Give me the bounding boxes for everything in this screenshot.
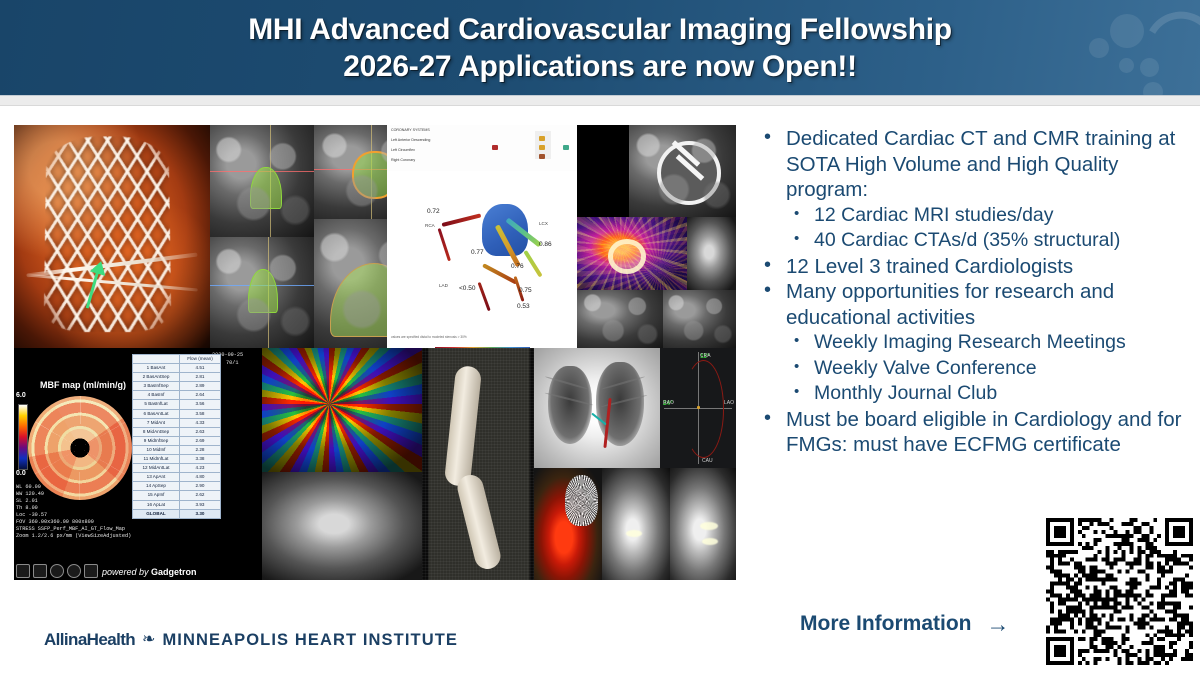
current-angle-marker [697,406,700,409]
lge-cmr-image [670,468,736,580]
qr-code-canvas[interactable] [1046,518,1193,673]
allina-health-wordmark: AllinaHealth [44,630,135,650]
segment-flow-value: 2.89 [180,382,221,391]
sub-bullet-item: 12 Cardiac MRI studies/day [752,203,1196,229]
segment-flow-value: 4.23 [180,464,221,473]
segment-name: 15 ApInf [133,491,180,500]
tool-icon-window[interactable] [50,564,64,578]
coronary-vessel [478,282,491,311]
table-row: 2 BasAntSep2.81 [133,373,221,382]
lge-cmr-image [602,468,670,580]
mbf-map-console: 6.0 0.0 MBF map (ml/min/g) WL 60.00 WW 1… [14,348,262,580]
table-row: 5 BasInfLat3.56 [133,400,221,409]
cine-cmr-short-axis-image [687,217,736,290]
tavr-volume-render-image [14,125,210,348]
gadgetron-name: Gadgetron [151,567,197,577]
ffr-marker [539,136,545,141]
table-row: 14 ApSep2.90 [133,482,221,491]
table-row: 16 ApLat3.93 [133,500,221,509]
segment-flow-value: 2.90 [180,482,221,491]
aorta-cpr-image [422,348,534,580]
coronary-tree-diagram: 0.72 0.86 0.77 0.76 <0.50 0.75 0.53 RCA … [387,171,577,355]
more-information-label: More Information [800,612,972,636]
ffr-panel-title: CORONARY SYSTEMS [391,128,430,132]
qr-code[interactable] [1046,518,1193,673]
mbf-map-title: MBF map (ml/min/g) [40,380,126,390]
mbf-scale-min: 0.0 [16,470,26,477]
imaging-collage: CORONARY SYSTEMS Left Anterior Descendin… [14,125,736,580]
segment-name: 9 MidInfSep [133,436,180,445]
coronary-vessel [438,228,451,261]
ffr-ct-report-panel: CORONARY SYSTEMS Left Anterior Descendin… [387,125,577,355]
ffr-marker [539,145,545,150]
allina-mhi-logo: AllinaHealth ❧ MINNEAPOLIS HEART INSTITU… [44,630,458,650]
bullet-item: Dedicated Cardiac CT and CMR training at… [752,126,1196,203]
fellowship-highlights-list: Dedicated Cardiac CT and CMR training at… [752,126,1196,458]
vessel-label-rca: RCA [425,223,435,228]
table-row: 13 ApAnt4.80 [133,473,221,482]
table-row: 11 MidInfLat3.38 [133,455,221,464]
calcified-valve [565,475,598,527]
mbf-scale-max: 6.0 [16,392,26,399]
carm-rao-label: RAO 24° [663,400,673,407]
ffr-row-label: Left Anterior Descending [391,138,430,142]
segment-flow-value: 4.51 [180,364,221,373]
ffr-value: 0.76 [511,263,524,270]
segment-name: 6 BasAntLat [133,409,180,418]
tool-icon-zoom[interactable] [33,564,47,578]
arrow-right-icon: → [987,613,1010,636]
tool-icon-measure[interactable] [67,564,81,578]
carm-cau-label: CAU [702,458,713,464]
dicom-overlay-line: FOV 360.00x360.00 800x800 [16,519,94,526]
valve-leaflet [676,154,705,180]
black-spacer [577,125,629,217]
ct-calcium-fusion-image [534,468,602,580]
ffr-row-label: Left Circumflex [391,148,415,152]
dicom-overlay-line: Zoom 1.2/2.6 px/mm (ViewSizeAdjusted) [16,533,131,540]
title-line-2: 2026-27 Applications are now Open!! [0,49,1200,86]
segment-flow-value: 3.38 [180,455,221,464]
table-header-row: Flow (mean) [133,355,221,364]
ffr-value: 0.77 [471,249,484,256]
segment-flow-value: 2.28 [180,445,221,454]
dicom-overlay-line: Loc -30.57 [16,512,47,519]
aortic-valve-contour [250,167,282,209]
table-row: 7 MidAnt4.33 [133,418,221,427]
coronary-vessel [523,250,542,278]
segment-flow-table: Flow (mean) 1 BasAnt4.512 BasAntSep2.813… [132,354,221,519]
ct-aortic-root-image [663,290,736,348]
more-information-link[interactable]: More Information → [800,612,1010,636]
ffr-row-label: Right Coronary [391,158,415,162]
sub-bullet-item: 40 Cardiac CTAs/d (35% structural) [752,228,1196,254]
prosthetic-valve-ring [657,141,721,205]
segment-flow-value: 2.64 [180,391,221,400]
carm-lao-label: LAO [724,400,734,406]
segment-flow-value: 4.33 [180,418,221,427]
segment-name: 12 MidAntLat [133,464,180,473]
gadgetron-powered-by: powered by [102,567,149,577]
ffr-value: <0.50 [459,285,475,292]
vessel-label-lcx: LCX [539,221,548,226]
t1-map-color-image [262,348,422,472]
dicom-series-number: 70/1 [226,360,238,367]
table-row: 15 ApInf2.62 [133,491,221,500]
vessel-label-lad: LAD [439,283,448,288]
segment-flow-value: 3.58 [180,409,221,418]
carm-cranial-label: CRA11° [700,353,709,360]
ct-chest-axial-image [577,290,663,348]
table-row: 10 MidInf2.28 [133,445,221,454]
slide-header-banner: MHI Advanced Cardiovascular Imaging Fell… [0,0,1200,95]
table-col-segment [133,355,180,364]
segment-name: 2 BasAntSep [133,373,180,382]
bullet-item: Must be board eligible in Cardiology and… [752,407,1196,458]
page-title: MHI Advanced Cardiovascular Imaging Fell… [0,12,1200,85]
ffr-value: 0.53 [517,303,530,310]
dicom-overlay-line: SL 2.01 [16,498,38,505]
dicom-overlay-line: Th 8.00 [16,505,38,512]
segment-name: 13 ApAnt [133,473,180,482]
segment-flow-value: 3.30 [180,509,221,518]
cardiac-perfusion-map-image [577,217,687,290]
angulation-curve [683,360,725,458]
segment-name: 16 ApLat [133,500,180,509]
myocardium-ring [608,239,647,274]
table-total-row: GLOBAL3.30 [133,509,221,518]
mbf-color-scale [18,404,28,470]
table-row: 12 MidAntLat4.23 [133,464,221,473]
sub-bullet-item: Weekly Valve Conference [752,356,1196,382]
c-arm-angulation-graph: CRA11° RAO 24° LAO CAU [660,348,736,468]
mechanical-valve-ct-image [629,125,736,217]
sub-bullet-item: Monthly Journal Club [752,381,1196,407]
title-line-1: MHI Advanced Cardiovascular Imaging Fell… [248,13,952,46]
segment-flow-value: 4.80 [180,473,221,482]
ffr-marker [563,145,569,150]
segment-name: GLOBAL [133,509,180,518]
table-row: 9 MidInfSep2.69 [133,436,221,445]
segment-name: 1 BasAnt [133,364,180,373]
table-row: 3 BasInfSep2.89 [133,382,221,391]
segment-flow-value: 2.63 [180,427,221,436]
gadgetron-branding: powered by Gadgetron [102,567,197,577]
segment-name: 7 MidAnt [133,418,180,427]
aha-17-segment-bullseye [28,396,132,500]
dicom-overlay-line: WW 120.49 [16,491,44,498]
segment-name: 14 ApSep [133,482,180,491]
viewer-toolbar[interactable] [16,564,98,578]
table-col-flow: Flow (mean) [180,355,221,364]
dicom-overlay-line: STRESS SSFP_Perf_MBF_AI_GT_Flow_Map [16,526,125,533]
dicom-overlay-line: WL 60.00 [16,484,41,491]
cine-cmr-four-chamber-image [262,472,422,580]
segment-name: 10 MidInf [133,445,180,454]
segment-name: 4 BasInf [133,391,180,400]
ffr-value: 0.75 [519,287,532,294]
bullet-item: 12 Level 3 trained Cardiologists [752,254,1196,280]
ffr-marker [492,145,498,150]
segment-flow-value: 3.56 [180,400,221,409]
bullet-item: Many opportunities for research and educ… [752,279,1196,330]
segment-flow-value: 2.81 [180,373,221,382]
table-row: 8 MidAntSep2.63 [133,427,221,436]
ffr-footnote: values are specified distal to modeled s… [391,335,467,339]
ffr-report-header: CORONARY SYSTEMS Left Anterior Descendin… [387,125,577,172]
header-divider [0,95,1200,106]
allina-leaf-icon: ❧ [142,632,155,648]
chest-fluoroscopy-image [534,348,660,468]
tool-icon-play[interactable] [84,564,98,578]
segment-name: 11 MidInfLat [133,455,180,464]
aortic-valve-contour [248,269,278,313]
coronary-vessel [442,213,482,227]
segment-flow-value: 3.93 [180,500,221,509]
sub-bullet-item: Weekly Imaging Research Meetings [752,330,1196,356]
tool-icon-pan[interactable] [16,564,30,578]
ffr-value: 0.72 [427,208,440,215]
table-row: 1 BasAnt4.51 [133,364,221,373]
valve-leaflet [672,140,701,166]
ct-annulus-sagittal [210,125,314,237]
stent-mesh [44,136,172,332]
minneapolis-heart-institute-wordmark: MINNEAPOLIS HEART INSTITUTE [162,631,458,650]
table-row: 6 BasAntLat3.58 [133,409,221,418]
ffr-marker [539,154,545,159]
segment-flow-value: 2.69 [180,436,221,445]
segment-name: 3 BasInfSep [133,382,180,391]
segment-name: 8 MidAntSep [133,427,180,436]
ct-annulus-coronal [210,237,314,348]
ffr-value: 0.86 [539,241,552,248]
table-row: 4 BasInf2.64 [133,391,221,400]
segment-name: 5 BasInfLat [133,400,180,409]
segment-flow-value: 2.62 [180,491,221,500]
